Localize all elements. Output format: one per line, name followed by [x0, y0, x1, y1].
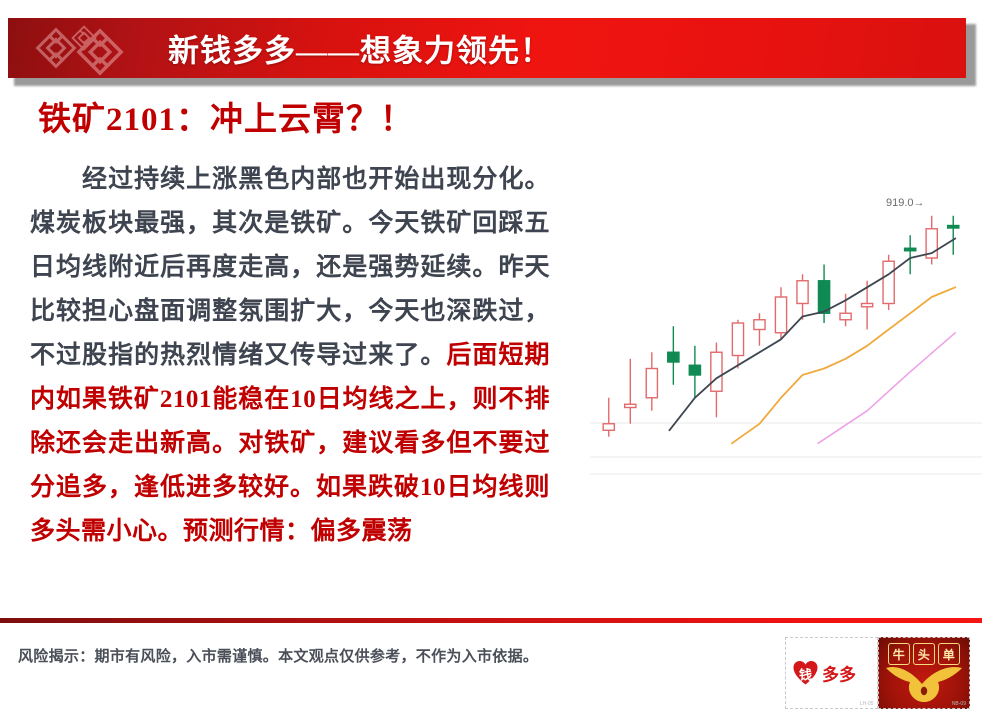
candle-3: [668, 326, 679, 385]
article-body: 经过持续上涨黑色内部也开始出现分化。煤炭板块最强，其次是铁矿。今天铁矿回踩五日均…: [30, 158, 550, 554]
header-banner: 新钱多多——想象力领先！: [8, 18, 970, 80]
diamond-knot-watermark-icon: [26, 22, 146, 76]
article-paragraph-dark: 经过持续上涨黑色内部也开始出现分化。煤炭板块最强，其次是铁矿。今天铁矿回踩五日均…: [30, 166, 550, 369]
heart-icon: 钱: [792, 660, 819, 687]
candle-10: [818, 265, 829, 324]
stamp-qianduoduo: 钱 多多 LH-05: [785, 637, 878, 709]
stamp-right-code: NB-09: [952, 701, 966, 707]
risk-disclaimer: 风险揭示：期市有风险，入市需谨慎。本文观点仅供参考，不作为入市依据。: [18, 645, 538, 666]
stamp-left-label: 多多: [822, 661, 856, 686]
candle-6: [732, 320, 743, 369]
ma20-line: [818, 333, 955, 444]
footer-divider: [0, 618, 982, 623]
brand-title: 新钱多多——想象力领先！: [168, 26, 552, 71]
candle-4: [689, 346, 700, 398]
stamp-left-code: LH-05: [860, 701, 874, 707]
ma5-line: [669, 239, 955, 431]
candle-13: [883, 255, 894, 310]
candle-1: [625, 359, 636, 424]
candle-9: [797, 274, 808, 320]
heart-char-label: 钱: [792, 660, 819, 687]
banner-body: 新钱多多——想象力领先！: [8, 18, 966, 78]
candle-8: [775, 287, 786, 339]
candle-15: [926, 216, 937, 265]
candle-2: [646, 352, 657, 411]
article-paragraph-red: 后面短期内如果铁矿2101能稳在10日均线之上，则不排除还会走出新高。对铁矿，建…: [30, 342, 550, 545]
brand-stamp: 钱 多多 LH-05 牛 头 单 NB-09: [785, 637, 970, 709]
candle-5: [711, 343, 722, 418]
candle-0: [603, 398, 614, 437]
stamp-niutoudan: 牛 头 单 NB-09: [878, 637, 971, 709]
candle-16: [948, 216, 959, 255]
ma10-line: [732, 287, 955, 443]
price-annotation-label: 919.0→: [886, 197, 925, 209]
candlestick-plot: [590, 175, 982, 475]
candle-7: [754, 313, 765, 346]
page-title: 铁矿2101：冲上云霄？！: [38, 92, 414, 140]
candle-14: [905, 235, 916, 274]
bull-head-icon: [878, 662, 970, 706]
candlestick-chart: 919.0→: [590, 175, 982, 475]
